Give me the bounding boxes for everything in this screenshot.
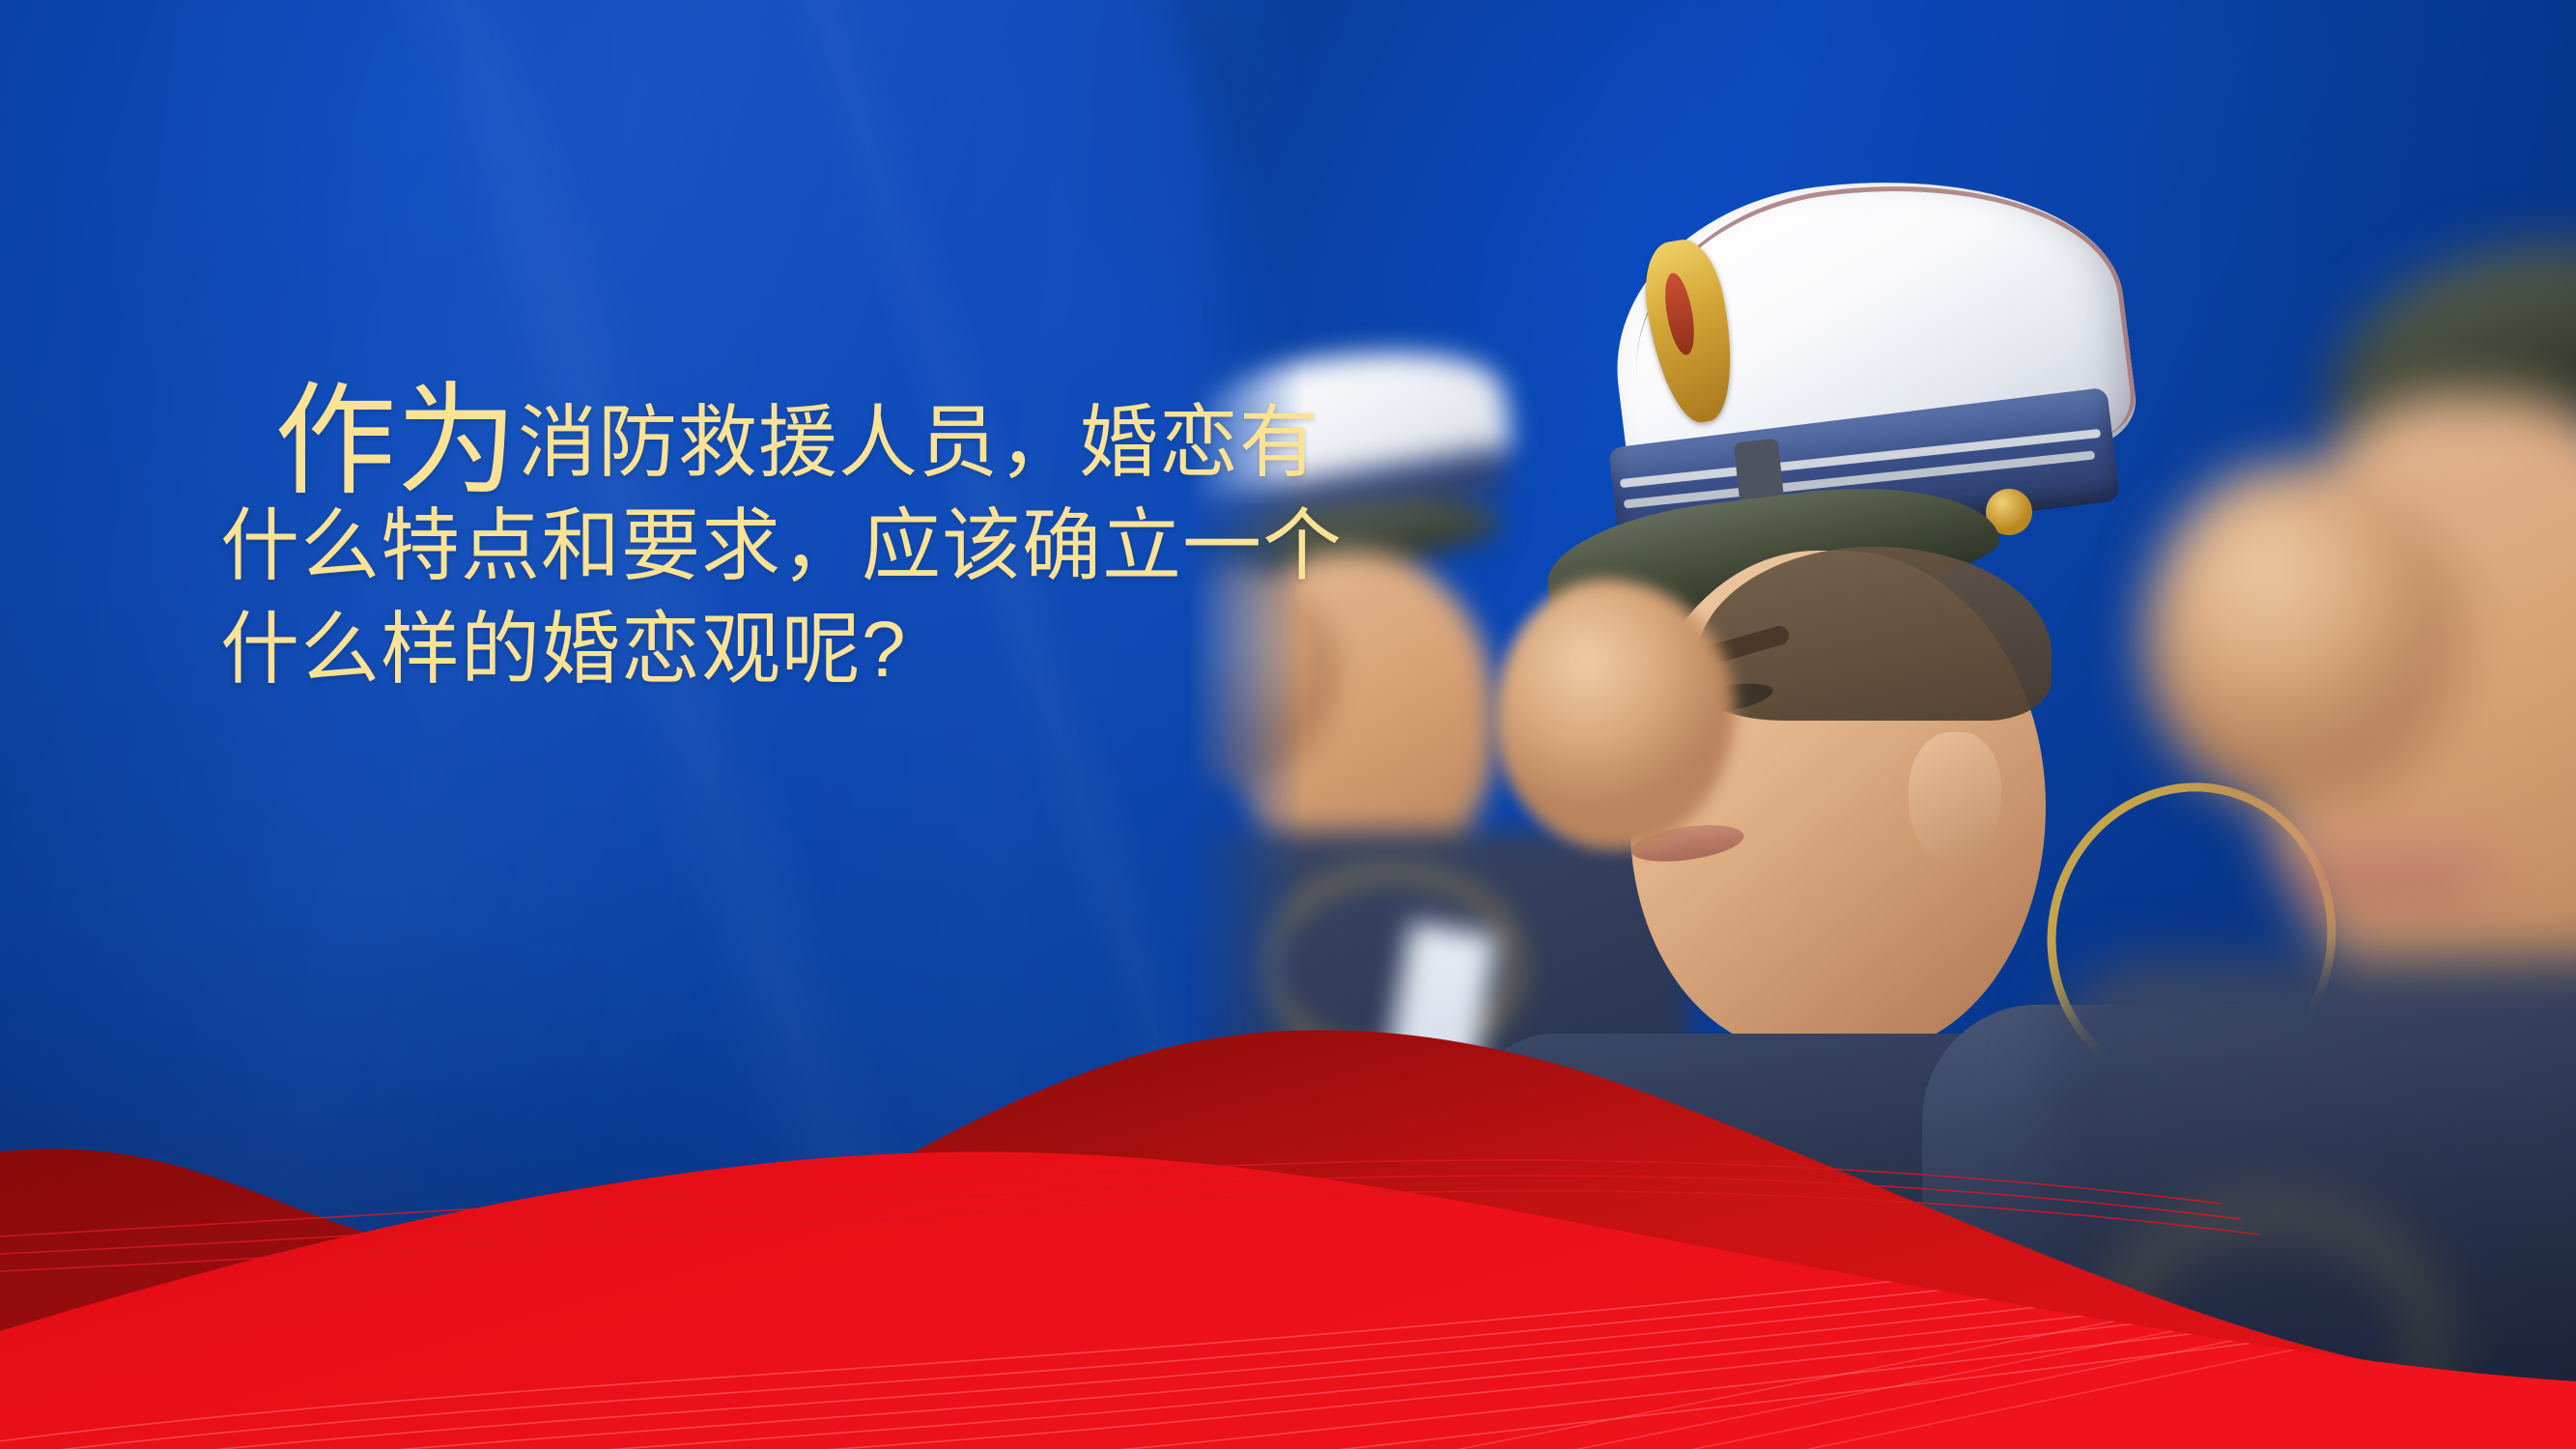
body-text-emphasis: 作为 (274, 373, 518, 509)
body-text-line-3: 什么样的婚恋观呢? (220, 599, 1360, 702)
bright-red-wave (0, 1152, 2576, 1449)
slide-body-text: 作为消防救援人员，婚恋有 什么特点和要求，应该确立一个 什么样的婚恋观呢? (220, 386, 1360, 702)
red-wave-footer (0, 947, 2576, 1449)
presentation-slide: 作为消防救援人员，婚恋有 什么特点和要求，应该确立一个 什么样的婚恋观呢? (0, 0, 2576, 1449)
body-text-line-1-rest: 消防救援人员，婚恋有 (518, 399, 1319, 487)
right-officer-fist (2144, 464, 2463, 811)
right-officer-lips (2279, 840, 2502, 904)
body-text-line-2: 什么特点和要求，应该确立一个 (220, 496, 1360, 599)
saluting-fist (1495, 580, 1735, 850)
body-text-line-1: 作为消防救援人员，婚恋有 (220, 386, 1360, 496)
